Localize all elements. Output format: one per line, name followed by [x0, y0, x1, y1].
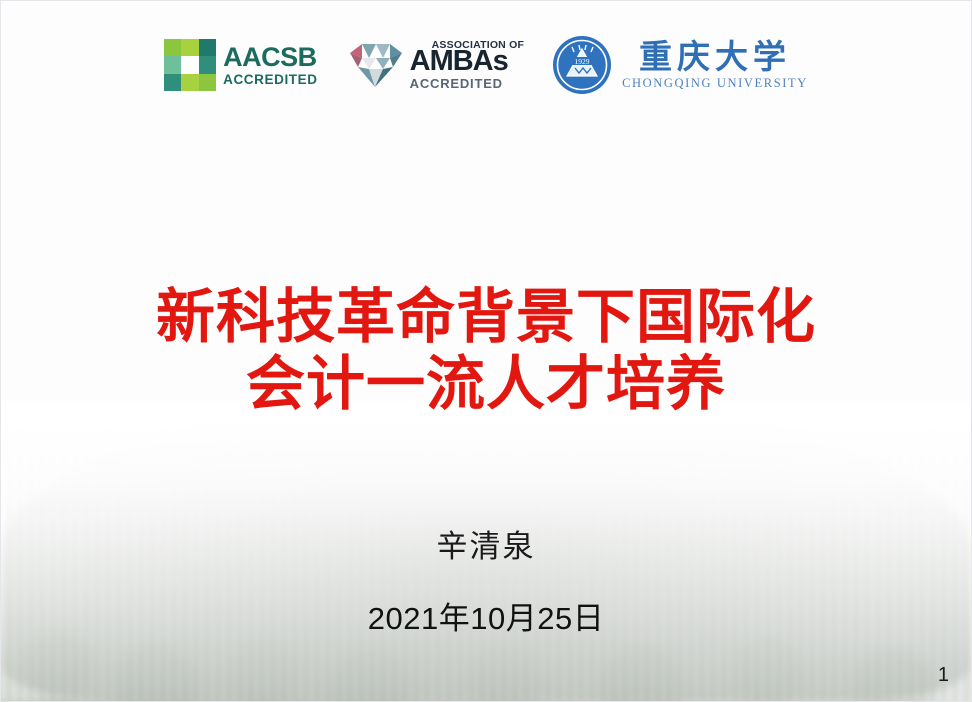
- amba-logo: ASSOCIATION OF AMBAs ACCREDITED: [346, 39, 524, 91]
- aacsb-wordmark: AACSB ACCREDITED: [223, 44, 318, 87]
- title-line-1: 新科技革命背景下国际化: [1, 283, 971, 350]
- amba-diamond-icon: [346, 39, 404, 91]
- presentation-slide: AACSB ACCREDITED: [0, 0, 972, 702]
- chongqing-university-logo: 1929 重庆大学 CHONGQING UNIVERSITY: [552, 35, 808, 95]
- cqu-seal-icon: 1929: [552, 35, 612, 95]
- amba-wordmark: ASSOCIATION OF AMBAs ACCREDITED: [410, 40, 524, 91]
- slide-title: 新科技革命背景下国际化 会计一流人才培养: [1, 283, 971, 418]
- cqu-english-name: CHONGQING UNIVERSITY: [622, 77, 808, 90]
- accreditation-logo-strip: AACSB ACCREDITED: [1, 35, 971, 95]
- aacsb-pinwheel-icon: [164, 39, 216, 91]
- amba-accredited-label: ACCREDITED: [410, 77, 524, 90]
- cqu-wordmark: 重庆大学 CHONGQING UNIVERSITY: [622, 40, 808, 90]
- presentation-date: 2021年10月25日: [1, 593, 971, 638]
- amba-name: AMBAs: [410, 47, 524, 76]
- presenter-name: 辛清泉: [1, 521, 971, 566]
- page-number: 1: [938, 664, 949, 687]
- cqu-chinese-name: 重庆大学: [639, 40, 791, 73]
- aacsb-name: AACSB: [223, 44, 318, 71]
- svg-text:1929: 1929: [575, 57, 590, 66]
- aacsb-accredited-label: ACCREDITED: [223, 73, 318, 87]
- aacsb-logo: AACSB ACCREDITED: [164, 39, 318, 91]
- title-line-2: 会计一流人才培养: [1, 350, 971, 417]
